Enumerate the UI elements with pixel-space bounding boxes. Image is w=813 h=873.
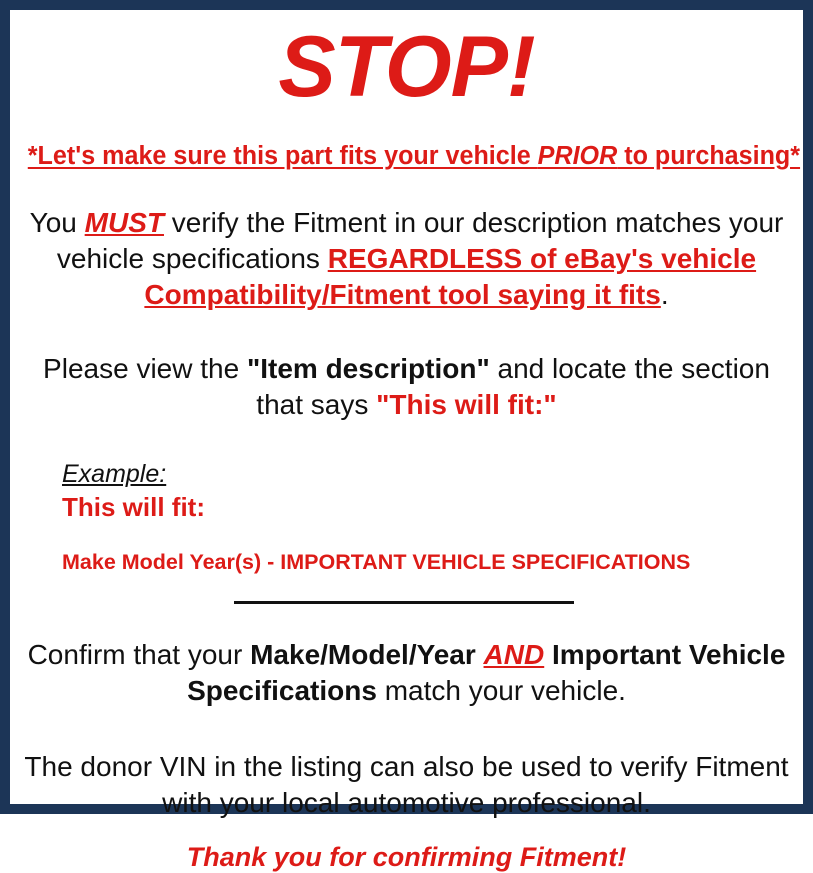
example-label: Example: bbox=[62, 460, 791, 490]
this-will-fit-quote: "This will fit:" bbox=[376, 389, 557, 420]
paragraph-confirm: Confirm that your Make/Model/Year AND Im… bbox=[22, 637, 791, 709]
confirm-text-1: Confirm that your bbox=[28, 639, 251, 670]
must-text-1: You bbox=[30, 207, 85, 238]
example-spec-line: Make Model Year(s) - IMPORTANT VEHICLE S… bbox=[62, 550, 791, 575]
subtitle-text-after: to purchasing* bbox=[617, 142, 800, 170]
subtitle-banner: *Let's make sure this part fits your veh… bbox=[28, 142, 785, 171]
horizontal-rule bbox=[234, 601, 574, 604]
paragraph-please-view: Please view the "Item description" and l… bbox=[22, 351, 791, 423]
must-text-3: . bbox=[661, 279, 669, 310]
confirm-space-2 bbox=[544, 639, 552, 670]
subtitle-text-before: *Let's make sure this part fits your veh… bbox=[28, 142, 538, 170]
confirm-text-2: match your vehicle. bbox=[377, 675, 626, 706]
stop-headline: STOP! bbox=[22, 24, 791, 124]
paragraph-donor-vin: The donor VIN in the listing can also be… bbox=[22, 749, 791, 821]
example-block: Example: This will fit: Make Model Year(… bbox=[22, 460, 791, 575]
and-emphasis: AND bbox=[484, 639, 545, 670]
item-description-label: "Item description" bbox=[247, 353, 490, 384]
thank-you-line: Thank you for confirming Fitment! bbox=[22, 842, 791, 873]
make-model-year-label: Make/Model/Year bbox=[250, 639, 476, 670]
please-text-1: Please view the bbox=[43, 353, 247, 384]
divider bbox=[22, 601, 791, 611]
paragraph-must-verify: You MUST verify the Fitment in our descr… bbox=[22, 205, 791, 312]
subtitle-emphasis-prior: PRIOR bbox=[538, 142, 618, 170]
confirm-space-1 bbox=[476, 639, 484, 670]
fitment-notice-card: STOP! *Let's make sure this part fits yo… bbox=[0, 0, 813, 814]
must-emphasis: MUST bbox=[85, 207, 164, 238]
example-this-will-fit: This will fit: bbox=[62, 492, 791, 523]
